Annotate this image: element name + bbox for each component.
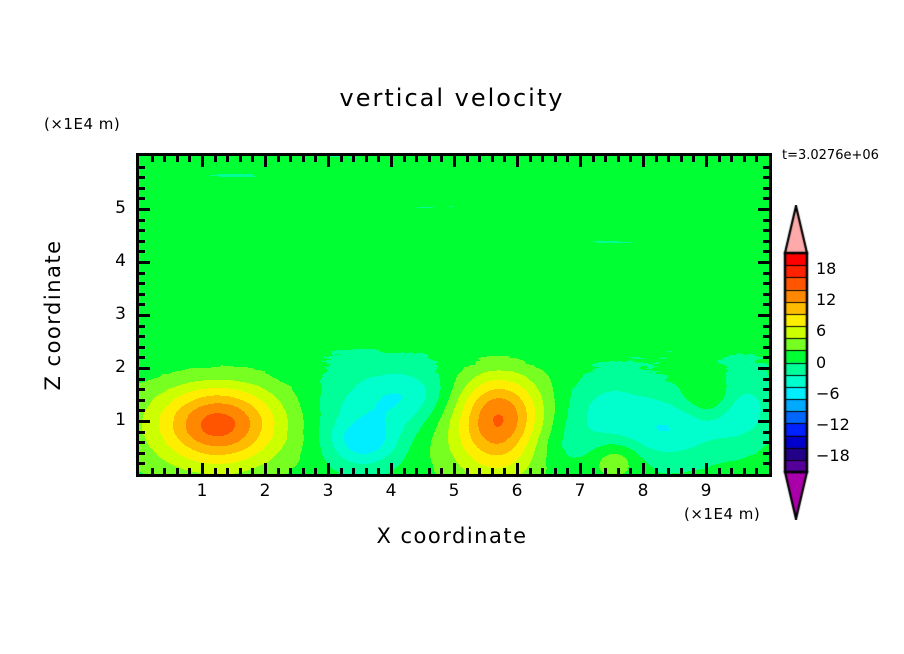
timestamp-label: t=3.0276e+06 bbox=[782, 148, 879, 163]
y-tick-minor-right bbox=[763, 409, 769, 412]
x-tick-minor bbox=[403, 468, 406, 474]
x-tick-minor-top bbox=[365, 156, 368, 162]
x-tick-minor bbox=[680, 468, 683, 474]
x-tick-major-top bbox=[327, 156, 330, 167]
y-tick-minor-right bbox=[763, 250, 769, 253]
y-tick-major bbox=[139, 367, 150, 370]
x-tick-minor-top bbox=[692, 156, 695, 162]
x-tick-minor bbox=[188, 468, 191, 474]
x-tick-minor bbox=[604, 468, 607, 474]
y-tick-minor-right bbox=[763, 272, 769, 275]
y-tick-minor-right bbox=[763, 187, 769, 190]
x-tick-minor-top bbox=[755, 156, 758, 162]
x-tick-minor bbox=[214, 468, 217, 474]
y-tick-minor bbox=[139, 356, 145, 359]
y-tick-minor-right bbox=[763, 219, 769, 222]
y-tick-minor-right bbox=[763, 452, 769, 455]
x-tick-major bbox=[642, 463, 645, 474]
x-tick-major bbox=[453, 463, 456, 474]
x-tick-minor-top bbox=[302, 156, 305, 162]
colorbar-tick-label: 0 bbox=[816, 353, 826, 372]
z-axis-unit-label: (×1E4 m) bbox=[44, 115, 120, 133]
x-tick-minor-top bbox=[352, 156, 355, 162]
y-tick-minor-right bbox=[763, 166, 769, 169]
y-axis-title: Z coordinate bbox=[41, 239, 65, 390]
x-tick-label: 2 bbox=[250, 481, 280, 501]
x-tick-major bbox=[201, 463, 204, 474]
y-tick-minor bbox=[139, 282, 145, 285]
x-tick-label: 7 bbox=[565, 481, 595, 501]
x-tick-minor bbox=[503, 468, 506, 474]
x-tick-minor-top bbox=[466, 156, 469, 162]
x-tick-minor bbox=[667, 468, 670, 474]
x-tick-minor bbox=[428, 468, 431, 474]
y-tick-major bbox=[139, 208, 150, 211]
x-tick-minor-top bbox=[314, 156, 317, 162]
x-tick-minor-top bbox=[541, 156, 544, 162]
y-tick-minor bbox=[139, 409, 145, 412]
y-tick-minor bbox=[139, 197, 145, 200]
y-tick-minor-right bbox=[763, 431, 769, 434]
x-tick-minor bbox=[491, 468, 494, 474]
x-tick-minor-top bbox=[667, 156, 670, 162]
x-tick-minor-top bbox=[188, 156, 191, 162]
y-tick-minor-right bbox=[763, 388, 769, 391]
y-tick-minor-right bbox=[763, 335, 769, 338]
y-tick-minor bbox=[139, 388, 145, 391]
x-tick-minor-top bbox=[289, 156, 292, 162]
y-tick-major bbox=[139, 420, 150, 423]
x-tick-minor-top bbox=[655, 156, 658, 162]
x-tick-minor-top bbox=[529, 156, 532, 162]
x-tick-label: 3 bbox=[313, 481, 343, 501]
x-tick-major bbox=[516, 463, 519, 474]
x-tick-major-top bbox=[516, 156, 519, 167]
x-tick-minor-top bbox=[617, 156, 620, 162]
x-tick-label: 9 bbox=[691, 481, 721, 501]
y-tick-minor-right bbox=[763, 462, 769, 465]
x-tick-minor bbox=[529, 468, 532, 474]
x-tick-minor-top bbox=[251, 156, 254, 162]
x-tick-major bbox=[390, 463, 393, 474]
x-tick-minor bbox=[239, 468, 242, 474]
y-tick-minor-right bbox=[763, 197, 769, 200]
y-tick-minor-right bbox=[763, 229, 769, 232]
x-tick-minor bbox=[692, 468, 695, 474]
y-tick-minor bbox=[139, 293, 145, 296]
x-tick-minor-top bbox=[491, 156, 494, 162]
x-tick-minor-top bbox=[176, 156, 179, 162]
x-tick-minor bbox=[755, 468, 758, 474]
x-tick-minor-top bbox=[680, 156, 683, 162]
x-tick-minor bbox=[718, 468, 721, 474]
y-tick-minor-right bbox=[763, 303, 769, 306]
x-tick-major bbox=[264, 463, 267, 474]
y-tick-minor-right bbox=[763, 346, 769, 349]
x-tick-minor bbox=[478, 468, 481, 474]
x-tick-major-top bbox=[453, 156, 456, 167]
y-tick-minor-right bbox=[763, 325, 769, 328]
y-tick-minor-right bbox=[763, 293, 769, 296]
x-tick-minor-top bbox=[428, 156, 431, 162]
x-tick-minor-top bbox=[239, 156, 242, 162]
x-tick-minor bbox=[554, 468, 557, 474]
y-tick-minor bbox=[139, 250, 145, 253]
y-tick-minor-right bbox=[763, 176, 769, 179]
y-tick-minor-right bbox=[763, 240, 769, 243]
y-tick-minor bbox=[139, 272, 145, 275]
x-tick-minor bbox=[743, 468, 746, 474]
x-tick-major-top bbox=[390, 156, 393, 167]
x-tick-minor bbox=[151, 468, 154, 474]
x-tick-major bbox=[579, 463, 582, 474]
x-tick-label: 4 bbox=[376, 481, 406, 501]
x-tick-minor bbox=[314, 468, 317, 474]
colorbar-tick-label: −6 bbox=[816, 384, 840, 403]
x-tick-minor bbox=[655, 468, 658, 474]
x-tick-minor bbox=[415, 468, 418, 474]
x-tick-minor-top bbox=[377, 156, 380, 162]
y-tick-minor bbox=[139, 441, 145, 444]
x-tick-minor-top bbox=[478, 156, 481, 162]
x-tick-minor-top bbox=[503, 156, 506, 162]
page-title: vertical velocity bbox=[0, 84, 904, 112]
y-tick-major bbox=[139, 314, 150, 317]
x-tick-minor bbox=[440, 468, 443, 474]
x-tick-major-top bbox=[579, 156, 582, 167]
colorbar-canvas bbox=[781, 205, 811, 520]
colorbar-tick-label: 6 bbox=[816, 321, 826, 340]
y-tick-minor bbox=[139, 431, 145, 434]
x-tick-minor bbox=[377, 468, 380, 474]
y-tick-minor bbox=[139, 303, 145, 306]
y-tick-minor-right bbox=[763, 356, 769, 359]
x-tick-minor bbox=[163, 468, 166, 474]
x-tick-minor-top bbox=[214, 156, 217, 162]
y-tick-minor bbox=[139, 378, 145, 381]
colorbar-tick-label: 12 bbox=[816, 290, 836, 309]
y-tick-minor bbox=[139, 325, 145, 328]
x-tick-minor bbox=[730, 468, 733, 474]
x-tick-major-top bbox=[705, 156, 708, 167]
y-tick-minor bbox=[139, 240, 145, 243]
figure-root: vertical velocity (×1E4 m) t=3.0276e+06 … bbox=[0, 0, 904, 654]
y-tick-major-right bbox=[758, 208, 769, 211]
x-tick-minor-top bbox=[440, 156, 443, 162]
x-tick-minor-top bbox=[163, 156, 166, 162]
x-tick-label: 1 bbox=[187, 481, 217, 501]
x-tick-minor bbox=[592, 468, 595, 474]
y-tick-minor bbox=[139, 176, 145, 179]
y-tick-minor bbox=[139, 452, 145, 455]
y-tick-minor bbox=[139, 166, 145, 169]
y-tick-minor bbox=[139, 335, 145, 338]
y-tick-label: 2 bbox=[104, 357, 126, 377]
y-tick-major-right bbox=[758, 261, 769, 264]
x-tick-minor-top bbox=[415, 156, 418, 162]
x-tick-minor-top bbox=[592, 156, 595, 162]
x-tick-label: 6 bbox=[502, 481, 532, 501]
y-tick-minor bbox=[139, 399, 145, 402]
x-tick-major bbox=[705, 463, 708, 474]
x-tick-minor-top bbox=[403, 156, 406, 162]
x-tick-minor bbox=[541, 468, 544, 474]
x-tick-minor-top bbox=[340, 156, 343, 162]
axis-tick-layer bbox=[139, 156, 769, 474]
y-tick-major-right bbox=[758, 420, 769, 423]
x-tick-minor bbox=[365, 468, 368, 474]
x-tick-minor-top bbox=[604, 156, 607, 162]
x-tick-minor bbox=[629, 468, 632, 474]
plot-frame bbox=[136, 153, 772, 477]
y-tick-minor-right bbox=[763, 399, 769, 402]
x-tick-minor bbox=[289, 468, 292, 474]
colorbar-tick-label: −12 bbox=[816, 415, 850, 434]
y-tick-minor bbox=[139, 229, 145, 232]
x-tick-minor bbox=[617, 468, 620, 474]
y-tick-minor-right bbox=[763, 282, 769, 285]
colorbar bbox=[781, 205, 811, 520]
y-tick-major-right bbox=[758, 367, 769, 370]
colorbar-tick-label: 18 bbox=[816, 259, 836, 278]
x-tick-minor-top bbox=[151, 156, 154, 162]
x-tick-label: 8 bbox=[628, 481, 658, 501]
x-tick-minor bbox=[352, 468, 355, 474]
x-tick-minor bbox=[251, 468, 254, 474]
x-tick-minor bbox=[466, 468, 469, 474]
x-tick-minor bbox=[176, 468, 179, 474]
x-tick-minor-top bbox=[226, 156, 229, 162]
x-tick-minor bbox=[302, 468, 305, 474]
y-tick-minor bbox=[139, 187, 145, 190]
x-tick-minor-top bbox=[730, 156, 733, 162]
x-tick-minor-top bbox=[629, 156, 632, 162]
x-tick-minor bbox=[340, 468, 343, 474]
x-tick-major-top bbox=[642, 156, 645, 167]
x-tick-label: 5 bbox=[439, 481, 469, 501]
x-tick-minor-top bbox=[554, 156, 557, 162]
x-tick-minor-top bbox=[277, 156, 280, 162]
y-tick-minor-right bbox=[763, 441, 769, 444]
y-tick-label: 3 bbox=[104, 304, 126, 324]
x-tick-minor-top bbox=[566, 156, 569, 162]
colorbar-tick-label: −18 bbox=[816, 446, 850, 465]
x-tick-minor-top bbox=[743, 156, 746, 162]
y-tick-minor-right bbox=[763, 378, 769, 381]
x-tick-minor bbox=[226, 468, 229, 474]
x-axis-title: X coordinate bbox=[0, 524, 904, 548]
x-tick-minor-top bbox=[718, 156, 721, 162]
y-tick-label: 1 bbox=[104, 410, 126, 430]
y-tick-major bbox=[139, 261, 150, 264]
x-tick-major bbox=[327, 463, 330, 474]
x-tick-minor bbox=[566, 468, 569, 474]
x-tick-major-top bbox=[264, 156, 267, 167]
y-tick-label: 4 bbox=[104, 251, 126, 271]
y-tick-minor bbox=[139, 346, 145, 349]
y-tick-label: 5 bbox=[104, 198, 126, 218]
x-tick-minor bbox=[277, 468, 280, 474]
y-tick-major-right bbox=[758, 314, 769, 317]
y-tick-minor bbox=[139, 219, 145, 222]
y-tick-minor bbox=[139, 462, 145, 465]
x-axis-unit-label: (×1E4 m) bbox=[684, 505, 760, 523]
x-tick-major-top bbox=[201, 156, 204, 167]
